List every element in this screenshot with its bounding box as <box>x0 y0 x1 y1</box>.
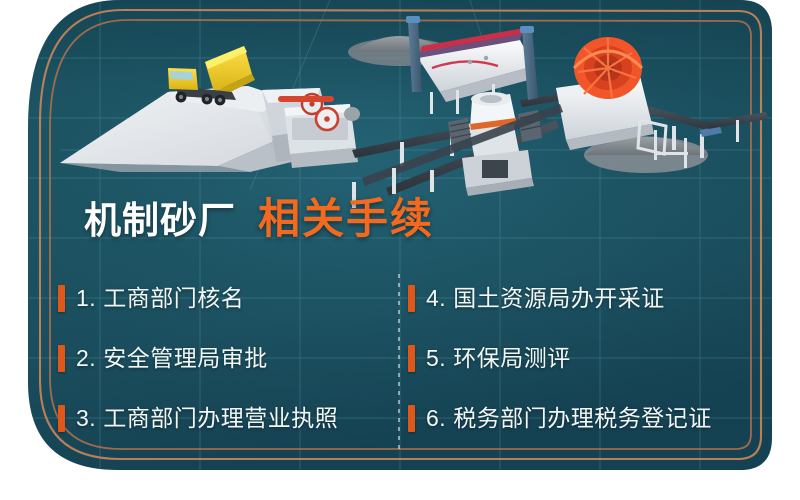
discharge-conveyor-icon <box>706 112 768 142</box>
list-item-label: 工商部门办理营业执照 <box>103 407 338 430</box>
list-item-number: 5. <box>426 347 446 370</box>
list-item[interactable]: 4. 国土资源局办开采证 <box>408 268 748 328</box>
list-item-label: 国土资源局办开采证 <box>453 287 665 310</box>
procedure-list: 1. 工商部门核名 2. 安全管理局审批 3. 工商部门办理营业执照 4. 国土… <box>0 268 800 458</box>
title-main-text: 机制砂厂 <box>84 202 236 239</box>
bullet-bar-icon <box>408 405 415 432</box>
list-item-number: 4. <box>426 287 446 310</box>
list-item-number: 3. <box>76 407 96 430</box>
list-item[interactable]: 3. 工商部门办理营业执照 <box>58 388 398 448</box>
list-item[interactable]: 6. 税务部门办理税务登记证 <box>408 388 748 448</box>
production-line-illustration <box>0 0 800 215</box>
list-item-label: 环保局测评 <box>453 347 571 370</box>
bullet-bar-icon <box>58 345 65 372</box>
list-item[interactable]: 5. 环保局测评 <box>408 328 748 388</box>
list-item-label: 税务部门办理税务登记证 <box>453 407 712 430</box>
list-item[interactable]: 1. 工商部门核名 <box>58 268 398 328</box>
poster-root: 机制砂厂 相关手续 1. 工商部门核名 2. 安全管理局审批 3. 工商部门办理… <box>0 0 800 500</box>
title-accent-text: 相关手续 <box>258 198 434 240</box>
list-item-label: 工商部门核名 <box>103 287 244 310</box>
bullet-bar-icon <box>408 285 415 312</box>
procedure-column-left: 1. 工商部门核名 2. 安全管理局审批 3. 工商部门办理营业执照 <box>58 268 398 448</box>
incline-conveyor-icon <box>352 104 563 208</box>
list-item-number: 1. <box>76 287 96 310</box>
bullet-bar-icon <box>58 285 65 312</box>
poster-title: 机制砂厂 相关手续 <box>84 198 434 240</box>
bullet-bar-icon <box>58 405 65 432</box>
procedure-column-right: 4. 国土资源局办开采证 5. 环保局测评 6. 税务部门办理税务登记证 <box>408 268 748 448</box>
column-divider <box>398 274 400 452</box>
list-item-label: 安全管理局审批 <box>103 347 268 370</box>
list-item[interactable]: 2. 安全管理局审批 <box>58 328 398 388</box>
list-item-number: 2. <box>76 347 96 370</box>
bullet-bar-icon <box>408 345 415 372</box>
list-item-number: 6. <box>426 407 446 430</box>
